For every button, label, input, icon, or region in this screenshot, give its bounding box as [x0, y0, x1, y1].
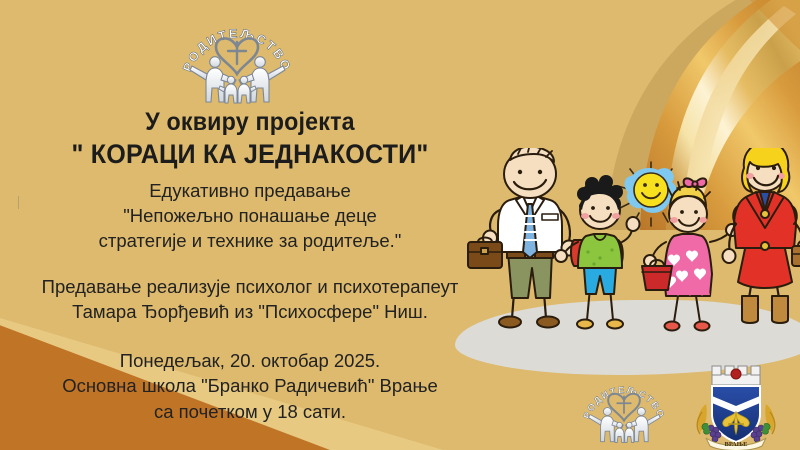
lecture-line-1: Едукативно предавање	[0, 179, 500, 204]
father-figure	[468, 148, 577, 328]
event-line-2: Основна школа "Бранко Радичевић" Врање	[0, 373, 500, 398]
vranje-coat-of-arms: ВРАЊЕ	[692, 362, 780, 450]
event-details: Понедељак, 20. октобар 2025. Основна шко…	[0, 348, 500, 423]
roditeljstvo-logo: РОДИТЕЉСТВО	[176, 2, 298, 110]
event-line-3: са почетком у 18 сати.	[0, 399, 500, 424]
headline-line-2: " КОРАЦИ КА ЈЕДНАКОСТИ"	[18, 139, 483, 171]
lecture-line-2: "Непожељно понашање деце	[0, 204, 500, 229]
poster-text-block: У оквиру пројекта " КОРАЦИ КА ЈЕДНАКОСТИ…	[0, 108, 500, 424]
mural-crown	[712, 366, 760, 385]
cartoon-family-illustration	[466, 148, 800, 348]
mother-figure	[723, 148, 800, 323]
event-line-1: Понедељак, 20. октобар 2025.	[0, 348, 500, 373]
crest-banner-text: ВРАЊЕ	[724, 441, 747, 448]
hair-bow-icon	[684, 178, 707, 187]
presenter-info: Предавање реализује психолог и психотера…	[0, 275, 500, 324]
lecture-line-3: стратегије и технике за родитеље."	[0, 229, 500, 254]
headline-line-1: У оквиру пројекта	[18, 108, 483, 138]
crown-gem	[731, 369, 741, 379]
lecture-info: Едукативно предавање "Непожељно понашање…	[0, 179, 500, 253]
poster-canvas: РОДИТЕЉСТВО	[0, 0, 800, 450]
cross-icon	[228, 42, 246, 64]
presenter-line-1: Предавање реализује психолог и психотера…	[0, 275, 500, 300]
roditeljstvo-logo-footer: РОДИТЕЉСТВО	[578, 366, 670, 448]
presenter-line-2: Тамара Ђорђевић из "Психосфере" Ниш.	[0, 300, 500, 325]
stray-tick-mark	[18, 196, 19, 209]
